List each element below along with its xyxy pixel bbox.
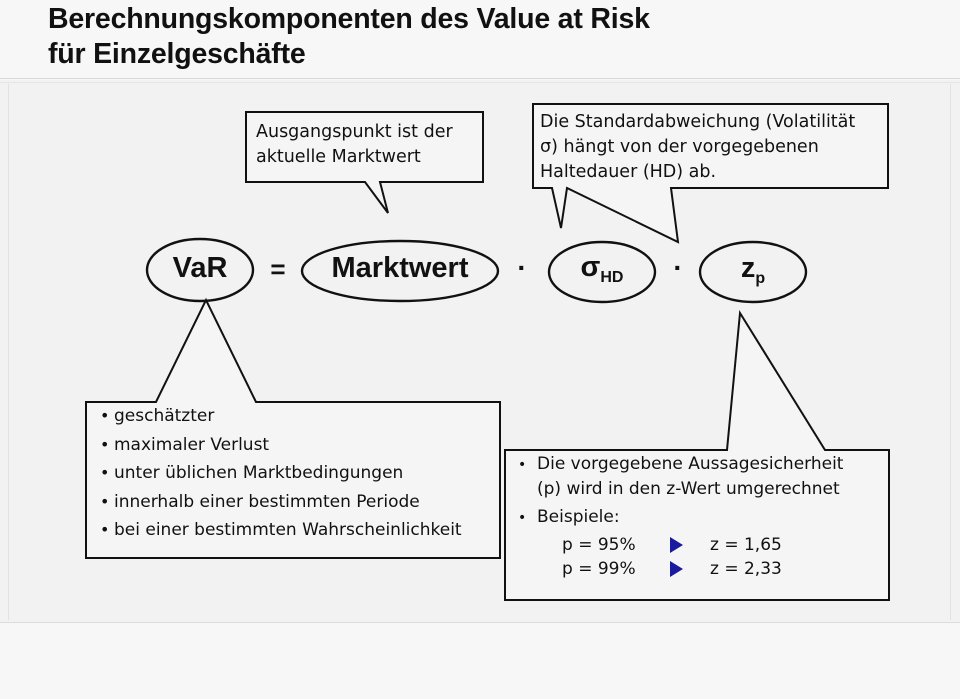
formula-sigma-base: σ: [581, 251, 601, 283]
list-item: • Beispiele:: [518, 505, 880, 531]
triangle-right-icon: [670, 537, 683, 553]
bullet-dot-icon: •: [100, 518, 114, 542]
formula-marktwert-label: Marktwert: [302, 252, 498, 285]
list-item: • innerhalb einer bestimmten Periode: [100, 490, 492, 514]
bullet-dot-icon: •: [100, 433, 114, 457]
title-divider: [0, 78, 960, 79]
formula-var-label: VaR: [147, 252, 253, 285]
list-item-label: geschätzter: [114, 404, 214, 428]
formula-sigma-subscript: HD: [600, 269, 623, 286]
callout-marktwert-text: Ausgangspunkt ist der aktuelle Marktwert: [256, 120, 484, 170]
content-edge-right: [950, 84, 951, 620]
list-item: • unter üblichen Marktbedingungen: [100, 461, 492, 485]
example-probability: p = 99%: [562, 559, 670, 579]
formula-multiply-operator-1: ·: [498, 252, 546, 284]
bullet-dot-icon: •: [518, 453, 537, 478]
formula-z-label: zp: [700, 252, 806, 285]
list-item-label: Beispiele:: [537, 505, 620, 530]
page-title: Berechnungskomponenten des Value at Risk…: [48, 2, 878, 72]
diagram-vector-layer: [0, 0, 960, 699]
title-band: Berechnungskomponenten des Value at Risk…: [0, 0, 960, 80]
list-item: • geschätzter: [100, 404, 492, 428]
formula-z-base: z: [741, 252, 756, 284]
list-item-label: innerhalb einer bestimmten Periode: [114, 490, 420, 514]
example-zvalue: z = 2,33: [710, 559, 782, 579]
list-item-label: bei einer bestimmten Wahrscheinlichkeit: [114, 518, 462, 542]
list-item: • maximaler Verlust: [100, 433, 492, 457]
list-item-label: Die vorgegebene Aussagesicherheit (p) wi…: [537, 452, 843, 502]
formula-multiply-operator-2: ·: [654, 252, 702, 284]
example-row: p = 95% z = 1,65: [562, 535, 880, 555]
arrow-cell: [670, 537, 710, 553]
example-zvalue: z = 1,65: [710, 535, 782, 555]
title-divider-secondary: [0, 82, 960, 83]
callout-volatilitaet-text: Die Standardabweichung (Volatilität σ) h…: [540, 110, 885, 185]
arrow-cell: [670, 561, 710, 577]
right-bullet-list: • Die vorgegebene Aussagesicherheit (p) …: [518, 452, 880, 579]
formula-equals-operator: =: [256, 254, 300, 285]
list-item: • Die vorgegebene Aussagesicherheit (p) …: [518, 452, 880, 502]
bullet-dot-icon: •: [100, 404, 114, 428]
list-item-label: maximaler Verlust: [114, 433, 269, 457]
list-item: • bei einer bestimmten Wahrscheinlichkei…: [100, 518, 492, 542]
example-row: p = 99% z = 2,33: [562, 559, 880, 579]
left-bullet-list: • geschätzter • maximaler Verlust • unte…: [100, 404, 492, 547]
slide-canvas: Berechnungskomponenten des Value at Risk…: [0, 0, 960, 699]
triangle-right-icon: [670, 561, 683, 577]
example-probability: p = 95%: [562, 535, 670, 555]
bullet-dot-icon: •: [100, 490, 114, 514]
list-item-label: unter üblichen Marktbedingungen: [114, 461, 403, 485]
formula-z-subscript: p: [755, 270, 765, 287]
formula-sigma-label: σHD: [549, 251, 655, 284]
bullet-dot-icon: •: [100, 461, 114, 485]
footer-band: Risk NET ® © 2006 RiskNET / Frank Romeik…: [0, 623, 960, 699]
bullet-dot-icon: •: [518, 506, 537, 531]
content-edge-left: [8, 84, 9, 620]
